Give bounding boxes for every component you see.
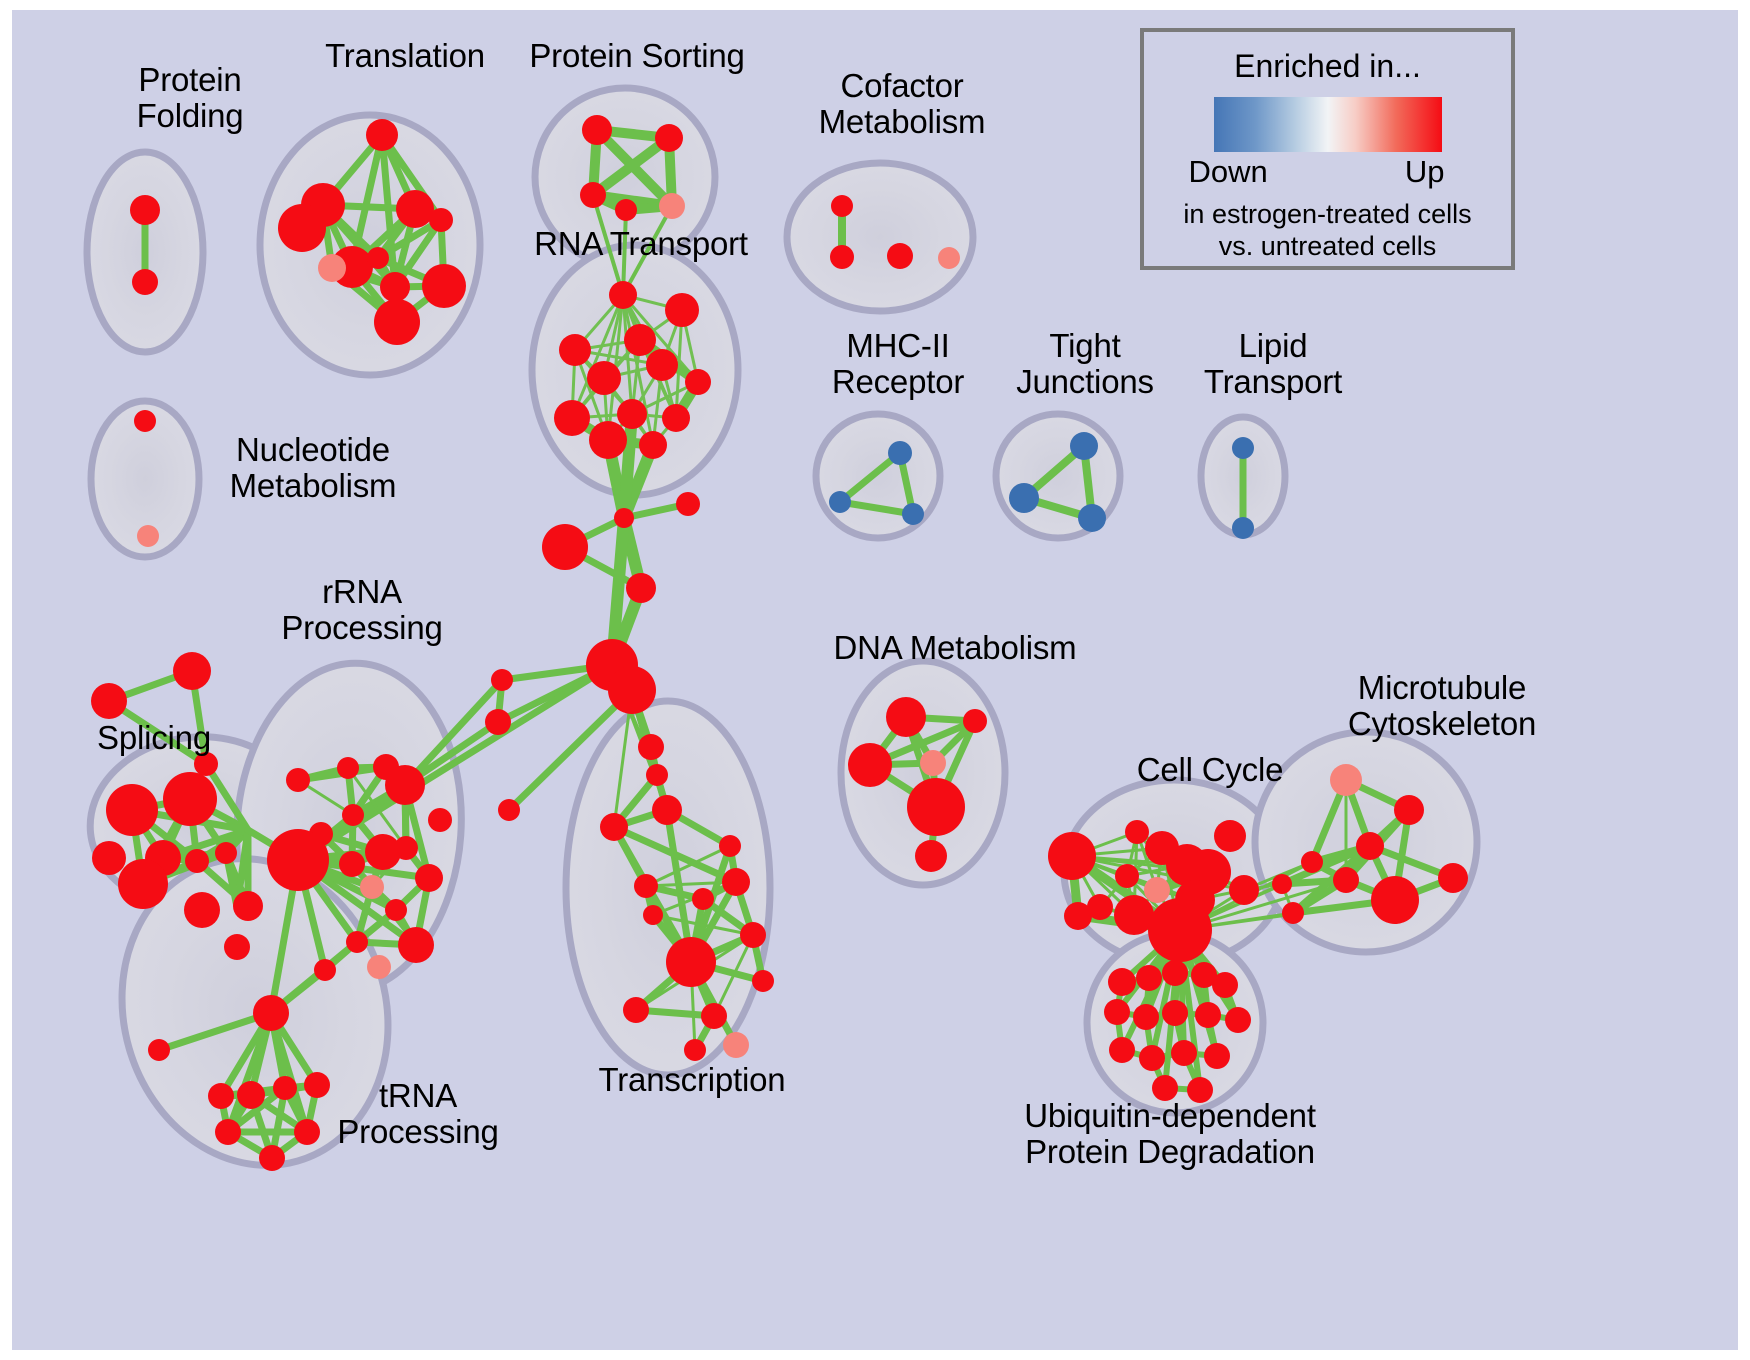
node xyxy=(830,245,854,269)
node xyxy=(1162,960,1188,986)
node xyxy=(118,859,168,909)
figure-root: Protein Folding Translation Protein Sort… xyxy=(0,0,1750,1360)
node xyxy=(184,892,220,928)
blob-cofactor xyxy=(787,163,973,311)
node xyxy=(346,931,368,953)
node xyxy=(659,193,685,219)
node xyxy=(646,349,678,381)
node xyxy=(652,795,682,825)
node xyxy=(1330,764,1362,796)
node xyxy=(1232,437,1254,459)
node xyxy=(380,272,410,302)
node xyxy=(367,955,391,979)
node xyxy=(626,573,656,603)
node xyxy=(580,182,606,208)
node xyxy=(1229,875,1259,905)
node xyxy=(1048,832,1096,880)
node xyxy=(887,243,913,269)
node xyxy=(723,1032,749,1058)
node xyxy=(267,829,329,891)
node xyxy=(224,934,250,960)
node xyxy=(623,997,649,1023)
node xyxy=(1187,1077,1213,1103)
node xyxy=(1115,864,1139,888)
node xyxy=(259,1145,285,1171)
node xyxy=(1009,483,1039,513)
node xyxy=(676,492,700,516)
node xyxy=(848,743,892,787)
node xyxy=(360,875,384,899)
node xyxy=(719,835,741,857)
node xyxy=(1136,965,1162,991)
node xyxy=(1109,1037,1135,1063)
node xyxy=(1125,820,1149,844)
node xyxy=(1282,902,1304,924)
node xyxy=(1232,517,1254,539)
node xyxy=(215,842,237,864)
node xyxy=(366,119,398,151)
node xyxy=(1212,972,1238,998)
node xyxy=(374,299,420,345)
node xyxy=(273,1076,297,1100)
network-canvas: Protein Folding Translation Protein Sort… xyxy=(12,10,1738,1350)
node xyxy=(237,1081,265,1109)
node xyxy=(1148,898,1212,962)
node xyxy=(1108,968,1136,996)
node xyxy=(253,995,289,1031)
node xyxy=(1371,876,1419,924)
node xyxy=(1133,1004,1159,1030)
node xyxy=(920,750,946,776)
node xyxy=(701,1003,727,1029)
node xyxy=(394,836,418,860)
node xyxy=(722,868,750,896)
node xyxy=(692,888,714,910)
node xyxy=(963,709,987,733)
node xyxy=(339,851,365,877)
node xyxy=(185,849,209,873)
node xyxy=(608,666,656,714)
node xyxy=(1394,795,1424,825)
node xyxy=(1114,895,1154,935)
legend-sublabel: in estrogen-treated cells vs. untreated … xyxy=(1144,198,1511,262)
node xyxy=(1152,1075,1178,1101)
node xyxy=(398,927,434,963)
node xyxy=(643,905,663,925)
legend-up-label: Up xyxy=(1405,154,1445,190)
node xyxy=(1070,432,1098,460)
legend-down-label: Down xyxy=(1189,154,1268,190)
node xyxy=(1139,1045,1165,1071)
node xyxy=(137,525,159,547)
node xyxy=(367,247,389,269)
node xyxy=(638,734,664,760)
node xyxy=(1104,999,1130,1025)
node xyxy=(665,293,699,327)
node xyxy=(662,404,690,432)
node xyxy=(1171,1040,1197,1066)
node xyxy=(148,1039,170,1061)
node xyxy=(1225,1007,1251,1033)
node xyxy=(655,124,683,152)
node xyxy=(587,361,621,395)
node xyxy=(600,813,628,841)
node xyxy=(314,959,336,981)
node xyxy=(415,864,443,892)
node xyxy=(1214,820,1246,852)
node xyxy=(194,752,218,776)
node xyxy=(1087,894,1113,920)
node xyxy=(1195,1002,1221,1028)
node xyxy=(582,115,612,145)
node xyxy=(639,431,667,459)
legend-endpoints: Down Up xyxy=(1183,154,1473,194)
node xyxy=(163,772,217,826)
node xyxy=(554,400,590,436)
node xyxy=(752,970,774,992)
legend-gradient xyxy=(1214,97,1442,152)
node xyxy=(134,410,156,432)
node xyxy=(634,874,658,898)
node xyxy=(429,208,453,232)
node xyxy=(559,334,591,366)
node xyxy=(740,922,766,948)
node xyxy=(396,190,434,228)
node xyxy=(385,899,407,921)
node xyxy=(422,264,466,308)
node xyxy=(294,1119,320,1145)
legend-box: Enriched in... Down Up in estrogen-treat… xyxy=(1140,28,1515,270)
node xyxy=(1162,1000,1188,1026)
node xyxy=(485,709,511,735)
node xyxy=(646,764,668,786)
node xyxy=(498,799,520,821)
node xyxy=(318,254,346,282)
node xyxy=(132,269,158,295)
node xyxy=(915,840,947,872)
node xyxy=(684,1039,706,1061)
node xyxy=(233,891,263,921)
node xyxy=(542,524,588,570)
node xyxy=(106,784,158,836)
node xyxy=(130,195,160,225)
node xyxy=(1301,851,1323,873)
legend-title: Enriched in... xyxy=(1144,48,1511,85)
node xyxy=(615,199,637,221)
node xyxy=(491,669,513,691)
node xyxy=(208,1083,234,1109)
node xyxy=(617,399,647,429)
node xyxy=(589,421,627,459)
node xyxy=(385,765,425,805)
node xyxy=(666,937,716,987)
node xyxy=(1144,877,1170,903)
node xyxy=(91,683,127,719)
node xyxy=(902,503,924,525)
node xyxy=(1204,1043,1230,1069)
node xyxy=(1438,863,1468,893)
node xyxy=(1078,504,1106,532)
node xyxy=(938,247,960,269)
node xyxy=(278,204,326,252)
node xyxy=(304,1072,330,1098)
node xyxy=(337,757,359,779)
node xyxy=(888,441,912,465)
node xyxy=(92,841,126,875)
node xyxy=(685,369,711,395)
legend-colorbar xyxy=(1214,97,1442,152)
node xyxy=(609,281,637,309)
node xyxy=(428,808,452,832)
node xyxy=(1333,867,1359,893)
node xyxy=(831,195,853,217)
node xyxy=(614,508,634,528)
node xyxy=(829,491,851,513)
node xyxy=(215,1119,241,1145)
node xyxy=(173,652,211,690)
node xyxy=(342,804,364,826)
node xyxy=(286,768,310,792)
node xyxy=(1356,832,1384,860)
node xyxy=(624,324,656,356)
node xyxy=(907,778,965,836)
node xyxy=(1272,874,1292,894)
node xyxy=(886,697,926,737)
